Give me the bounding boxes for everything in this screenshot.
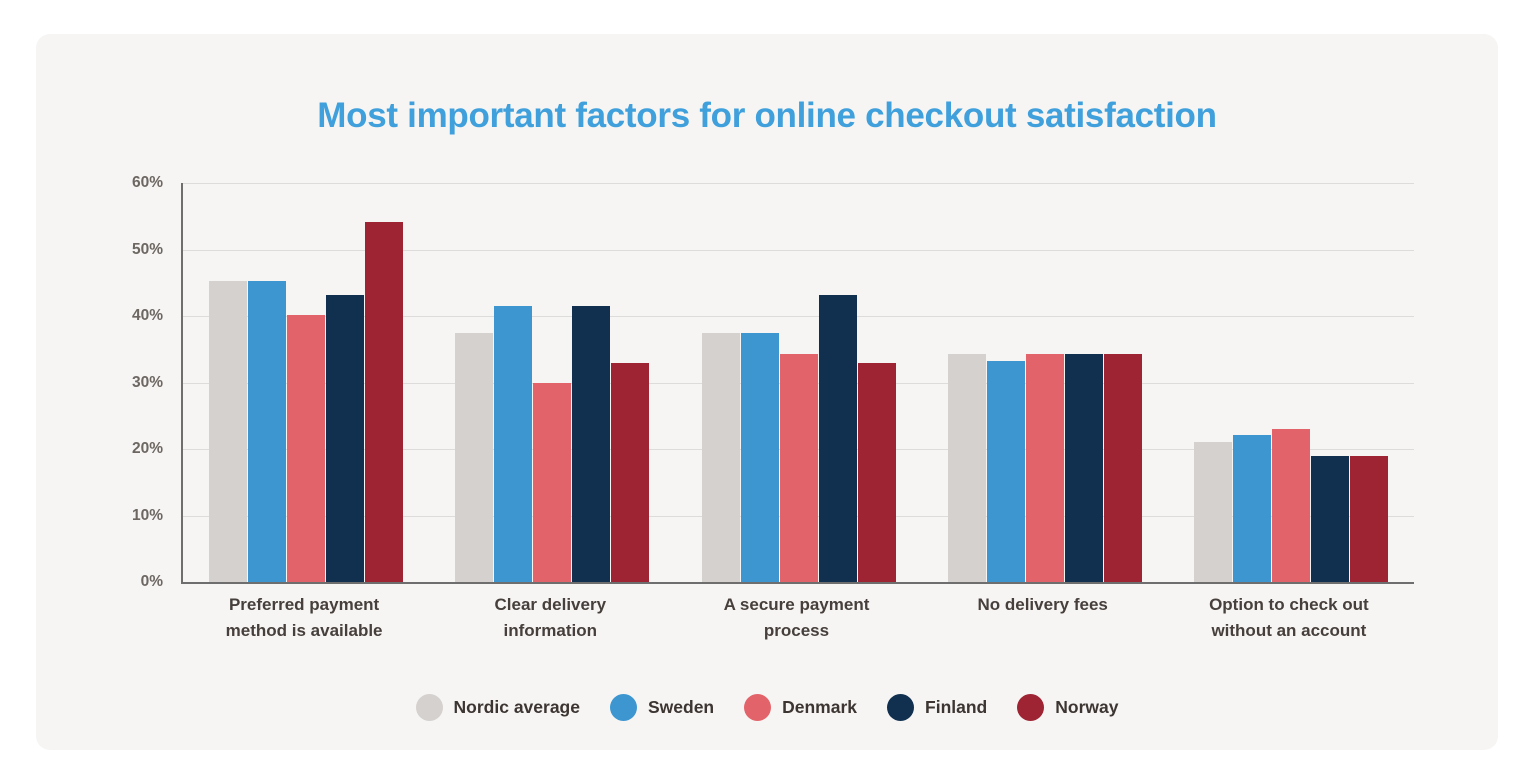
legend-label: Norway — [1055, 697, 1118, 718]
y-axis-tick-label: 60% — [36, 174, 163, 192]
bar[interactable] — [1104, 354, 1142, 582]
x-axis-category-label: Option to check outwithout an account — [1166, 592, 1412, 645]
bar[interactable] — [572, 306, 610, 582]
x-axis-category-label-line: No delivery fees — [920, 592, 1166, 618]
bar[interactable] — [248, 281, 286, 582]
x-axis-category-label-line: Clear delivery — [427, 592, 673, 618]
bar[interactable] — [494, 306, 532, 582]
y-axis-tick-label: 0% — [36, 573, 163, 591]
y-axis-tick-label: 40% — [36, 307, 163, 325]
bar[interactable] — [365, 222, 403, 582]
x-axis-category-label: Clear deliveryinformation — [427, 592, 673, 645]
x-axis-category-label-line: process — [673, 618, 919, 644]
chart-plot-wrapper: 0%10%20%30%40%50%60% Preferred paymentme… — [36, 34, 1498, 750]
x-axis-category-label: No delivery fees — [920, 592, 1166, 618]
legend-swatch-circle-icon — [610, 694, 637, 721]
bar[interactable] — [948, 354, 986, 582]
chart-legend: Nordic averageSwedenDenmarkFinlandNorway — [36, 694, 1498, 721]
bar[interactable] — [326, 295, 364, 582]
legend-swatch-circle-icon — [744, 694, 771, 721]
legend-item[interactable]: Denmark — [744, 694, 857, 721]
bar[interactable] — [702, 333, 740, 582]
bar[interactable] — [858, 363, 896, 582]
bar[interactable] — [819, 295, 857, 582]
legend-item[interactable]: Nordic average — [416, 694, 580, 721]
x-axis-category-labels: Preferred paymentmethod is availableClea… — [181, 592, 1412, 662]
bar-group — [948, 183, 1142, 582]
bar-group — [455, 183, 649, 582]
legend-swatch-circle-icon — [887, 694, 914, 721]
bar[interactable] — [1233, 435, 1271, 582]
bar-group — [209, 183, 403, 582]
bar[interactable] — [209, 281, 247, 582]
x-axis-category-label-line: A secure payment — [673, 592, 919, 618]
x-axis-category-label-line: method is available — [181, 618, 427, 644]
bar[interactable] — [1350, 456, 1388, 582]
legend-item[interactable]: Sweden — [610, 694, 714, 721]
x-axis-category-label-line: information — [427, 618, 673, 644]
x-axis-category-label-line: without an account — [1166, 618, 1412, 644]
plot-area — [181, 183, 1414, 584]
legend-label: Denmark — [782, 697, 857, 718]
x-axis-category-label: A secure paymentprocess — [673, 592, 919, 645]
y-axis-tick-label: 20% — [36, 440, 163, 458]
legend-label: Finland — [925, 697, 987, 718]
bar[interactable] — [1311, 456, 1349, 582]
chart-card: Most important factors for online checko… — [36, 34, 1498, 750]
bar-group — [702, 183, 896, 582]
x-axis-category-label-line: Option to check out — [1166, 592, 1412, 618]
legend-label: Nordic average — [454, 697, 580, 718]
bar[interactable] — [1065, 354, 1103, 582]
bar[interactable] — [455, 333, 493, 582]
bar[interactable] — [1194, 442, 1232, 582]
legend-item[interactable]: Norway — [1017, 694, 1118, 721]
bar[interactable] — [780, 354, 818, 582]
legend-swatch-circle-icon — [416, 694, 443, 721]
bar[interactable] — [1026, 354, 1064, 582]
bar[interactable] — [533, 383, 571, 583]
x-axis-category-label-line: Preferred payment — [181, 592, 427, 618]
legend-label: Sweden — [648, 697, 714, 718]
bar[interactable] — [741, 333, 779, 582]
y-axis-tick-label: 30% — [36, 374, 163, 392]
y-axis-tick-label: 10% — [36, 507, 163, 525]
bar[interactable] — [987, 361, 1025, 582]
y-axis-tick-label: 50% — [36, 241, 163, 259]
legend-item[interactable]: Finland — [887, 694, 987, 721]
bar[interactable] — [611, 363, 649, 582]
bar-group — [1194, 183, 1388, 582]
x-axis-category-label: Preferred paymentmethod is available — [181, 592, 427, 645]
bar[interactable] — [287, 315, 325, 582]
bar[interactable] — [1272, 429, 1310, 582]
legend-swatch-circle-icon — [1017, 694, 1044, 721]
